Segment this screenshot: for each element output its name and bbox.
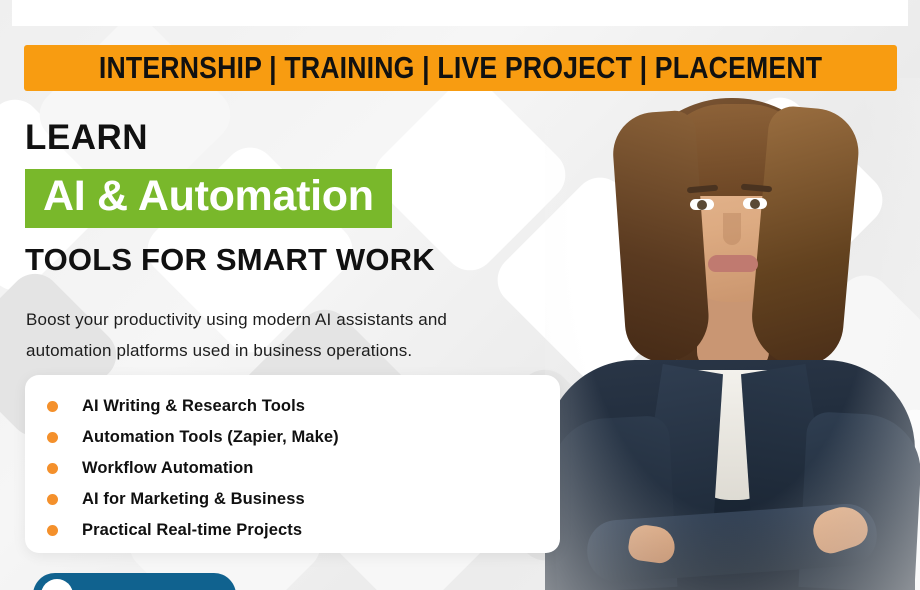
presenter-photo xyxy=(545,78,920,590)
feature-list-card: AI Writing & Research Tools Automation T… xyxy=(25,375,560,553)
headline-line-learn: LEARN xyxy=(25,120,435,155)
offerings-ribbon: INTERNSHIP | TRAINING | LIVE PROJECT | P… xyxy=(24,45,897,91)
list-item-label: Workflow Automation xyxy=(82,459,253,478)
headline-highlight: AI & Automation xyxy=(25,169,392,228)
bullet-dot-icon xyxy=(47,494,58,505)
top-white-strip xyxy=(12,0,908,26)
list-item: Practical Real-time Projects xyxy=(47,515,560,546)
cta-button[interactable] xyxy=(33,573,236,590)
list-item-label: Practical Real-time Projects xyxy=(82,521,302,540)
bullet-dot-icon xyxy=(47,432,58,443)
cta-badge-icon xyxy=(41,579,73,590)
description-text: Boost your productivity using modern AI … xyxy=(26,305,586,367)
bullet-dot-icon xyxy=(47,525,58,536)
list-item-label: Automation Tools (Zapier, Make) xyxy=(82,428,339,447)
bullet-dot-icon xyxy=(47,401,58,412)
list-item: AI Writing & Research Tools xyxy=(47,391,560,422)
list-item-label: AI for Marketing & Business xyxy=(82,490,305,509)
headline-line-tools: TOOLS FOR SMART WORK xyxy=(25,244,435,275)
promo-poster: INTERNSHIP | TRAINING | LIVE PROJECT | P… xyxy=(0,0,920,590)
list-item: Automation Tools (Zapier, Make) xyxy=(47,422,560,453)
headline-block: LEARN AI & Automation TOOLS FOR SMART WO… xyxy=(25,120,435,275)
list-item-label: AI Writing & Research Tools xyxy=(82,397,305,416)
list-item: Workflow Automation xyxy=(47,453,560,484)
list-item: AI for Marketing & Business xyxy=(47,484,560,515)
description-line-2: automation platforms used in business op… xyxy=(26,336,586,367)
bullet-dot-icon xyxy=(47,463,58,474)
photo-edge-fade xyxy=(545,78,920,590)
description-line-1: Boost your productivity using modern AI … xyxy=(26,305,586,336)
ribbon-text: INTERNSHIP | TRAINING | LIVE PROJECT | P… xyxy=(99,50,822,86)
